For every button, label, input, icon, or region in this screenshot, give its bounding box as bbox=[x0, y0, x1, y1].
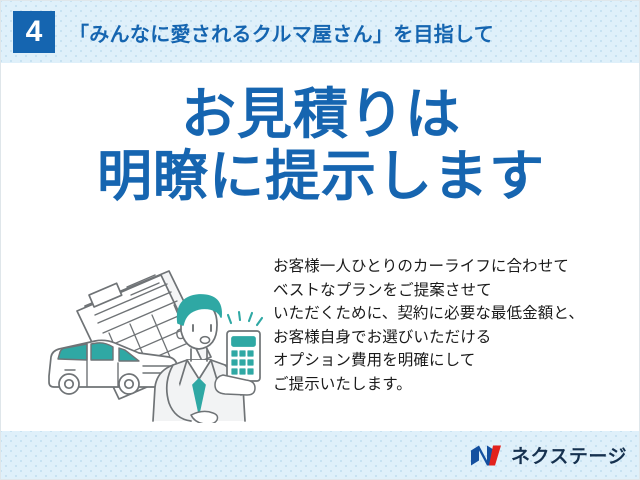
nextage-n-mark-icon bbox=[470, 443, 504, 467]
body-copy-line: ベストなプランをご提案させて bbox=[273, 279, 633, 303]
headline-line-1: お見積りは bbox=[1, 83, 640, 145]
sparkle-icon bbox=[228, 312, 262, 325]
body-copy-line: お客様一人ひとりのカーライフに合わせて bbox=[273, 255, 633, 279]
footer-band: ネクステージ bbox=[1, 431, 640, 479]
body-copy-line: オプション費用を明確にして bbox=[273, 349, 633, 373]
headline: お見積りは 明瞭に提示します bbox=[1, 83, 640, 207]
promo-banner: 4 「みんなに愛されるクルマ屋さん」を目指して お見積りは 明瞭に提示します お… bbox=[0, 0, 640, 480]
section-number-badge: 4 bbox=[13, 11, 55, 53]
body-copy-line: ご提示いたします。 bbox=[273, 373, 633, 397]
brand-name: ネクステージ bbox=[511, 442, 627, 469]
headline-line-2: 明瞭に提示します bbox=[1, 145, 640, 207]
main-content: お見積りは 明瞭に提示します お客様一人ひとりのカーライフに合わせて ベストなプ… bbox=[1, 63, 640, 433]
body-copy-line: いただくために、契約に必要な最低金額と、 bbox=[273, 302, 633, 326]
body-copy: お客様一人ひとりのカーライフに合わせて ベストなプランをご提案させて いただくた… bbox=[273, 255, 633, 396]
header-title: 「みんなに愛されるクルマ屋さん」を目指して bbox=[69, 18, 494, 47]
header-band: 4 「みんなに愛されるクルマ屋さん」を目指して bbox=[1, 1, 640, 63]
brand-logo: ネクステージ bbox=[470, 442, 627, 469]
salesman-quotation-van-illustration bbox=[35, 253, 275, 423]
body-copy-line: お客様自身でお選びいただける bbox=[273, 326, 633, 350]
